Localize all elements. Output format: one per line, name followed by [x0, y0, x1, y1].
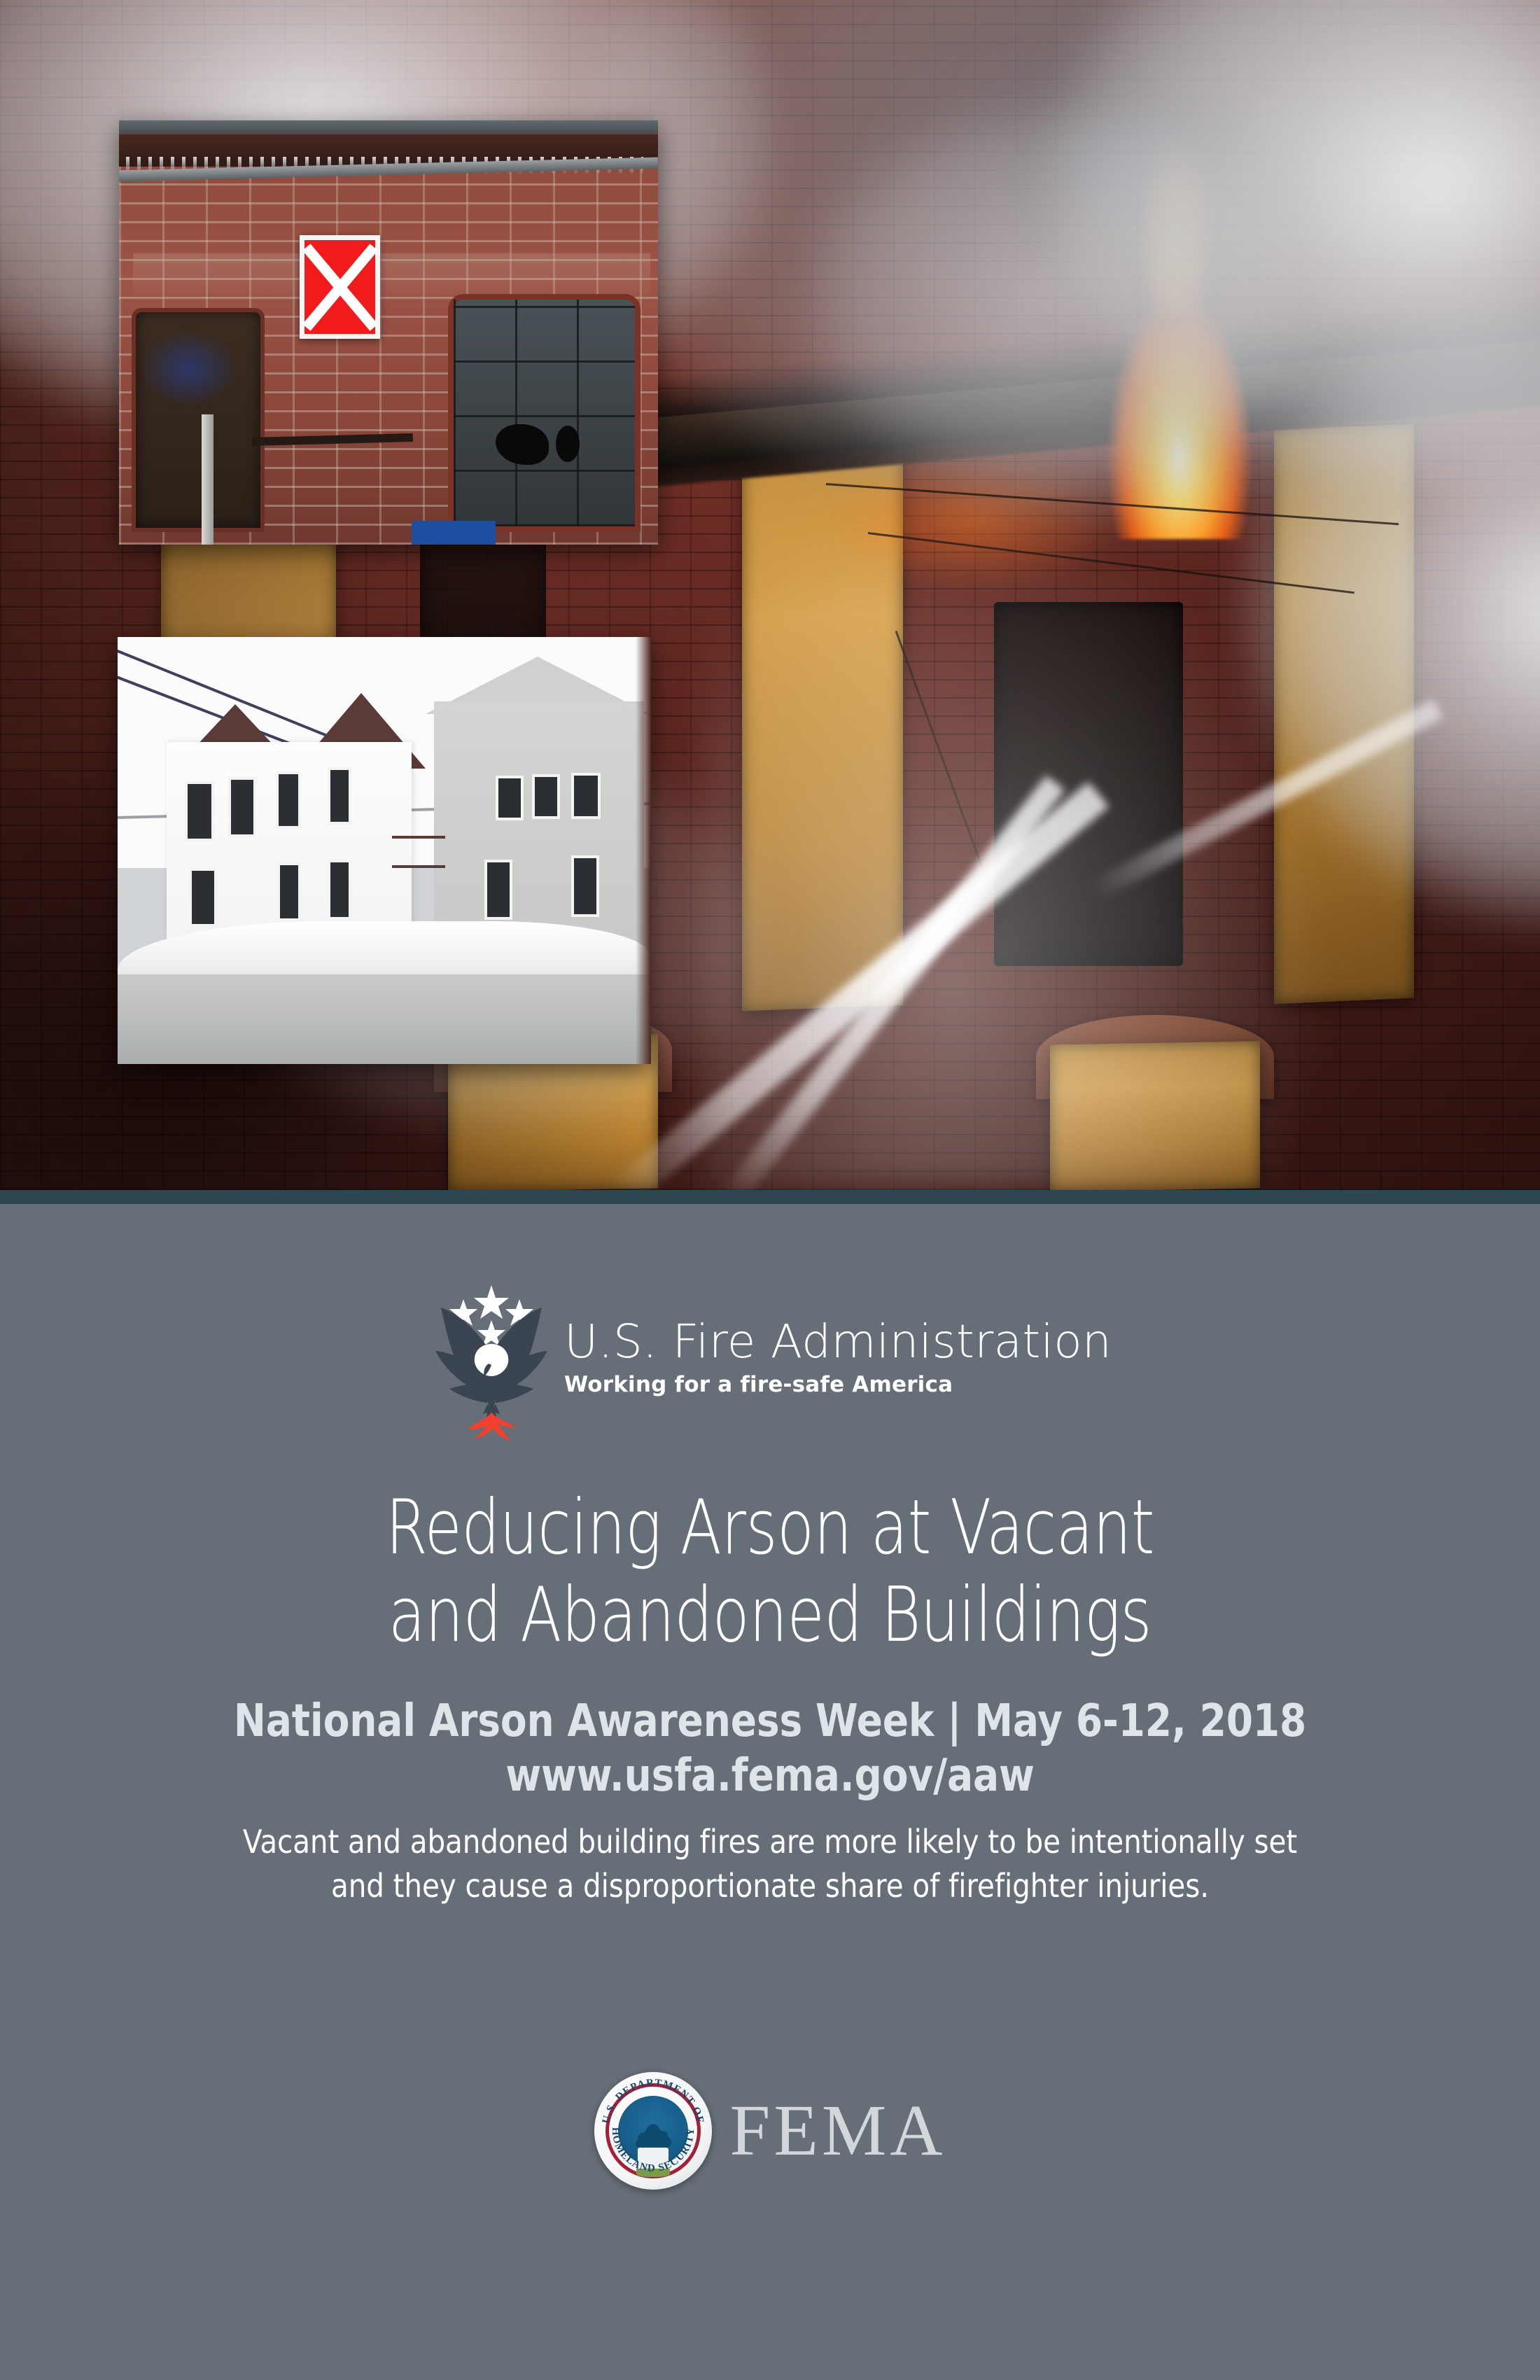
content-panel: U.S. Fire Administration Working for a f… [0, 1204, 1540, 2380]
standpipe [202, 414, 213, 545]
window [189, 868, 217, 927]
dhs-seal-icon: U.S. DEPARTMENT OF HOMELAND SECURITY [594, 2072, 712, 2190]
section-divider [0, 1190, 1540, 1204]
window-pane-grid [454, 300, 635, 526]
window [571, 773, 601, 819]
red-x-placard-icon [300, 235, 380, 339]
campaign-url[interactable]: www.usfa.fema.gov/aaw [108, 1749, 1432, 1803]
inset-photo-red-x-placard-building [119, 120, 658, 545]
balcony-railing [392, 836, 445, 868]
usfa-eagle-icon [428, 1274, 554, 1442]
graffiti-marking [140, 330, 238, 407]
window [328, 767, 351, 825]
window [532, 774, 560, 819]
headline-line-1: Reducing Arson at Vacant [154, 1484, 1386, 1571]
photo-edge-shadow [636, 637, 651, 1064]
poster: U.S. Fire Administration Working for a f… [0, 0, 1540, 2380]
fema-logo-lockup: U.S. DEPARTMENT OF HOMELAND SECURITY FEM… [0, 2072, 1540, 2190]
window [496, 776, 524, 820]
smoke-plume [805, 105, 1295, 497]
window [328, 860, 351, 920]
svg-text:HOMELAND SECURITY: HOMELAND SECURITY [609, 2127, 696, 2174]
usfa-wordmark: U.S. Fire Administration Working for a f… [564, 1319, 1112, 1397]
page-title: Reducing Arson at Vacant and Abandoned B… [154, 1484, 1386, 1660]
broken-arched-window [448, 294, 640, 532]
broken-pane-hole [556, 426, 580, 462]
window [571, 855, 599, 917]
window [228, 777, 256, 837]
window [185, 781, 214, 841]
usfa-logo: U.S. Fire Administration Working for a f… [0, 1274, 1540, 1442]
window [277, 862, 301, 921]
window [484, 860, 512, 920]
dhs-seal-text-top: U.S. DEPARTMENT OF [600, 2078, 705, 2125]
inset-photo-vacant-houses-winter [118, 637, 651, 1064]
body-line-1: Vacant and abandoned building fires are … [92, 1820, 1448, 1864]
usfa-tagline: Working for a fire-safe America [564, 1372, 1112, 1397]
street-pavement [118, 974, 651, 1064]
subtitle-block: National Arson Awareness Week | May 6-12… [108, 1694, 1432, 1803]
background-photo-fire-scene [0, 0, 1540, 1190]
usfa-title: U.S. Fire Administration [564, 1319, 1112, 1365]
dhs-seal-text-bottom: HOMELAND SECURITY [609, 2127, 696, 2174]
body-copy: Vacant and abandoned building fires are … [92, 1820, 1448, 1909]
headline-line-2: and Abandoned Buildings [154, 1571, 1386, 1659]
body-line-2: and they cause a disproportionate share … [92, 1864, 1448, 1908]
window [276, 771, 301, 829]
fema-wordmark: FEMA [730, 2094, 946, 2167]
campaign-week-line: National Arson Awareness Week | May 6-12… [108, 1694, 1432, 1749]
svg-text:U.S. DEPARTMENT OF: U.S. DEPARTMENT OF [600, 2078, 705, 2125]
blue-sign [412, 521, 496, 545]
